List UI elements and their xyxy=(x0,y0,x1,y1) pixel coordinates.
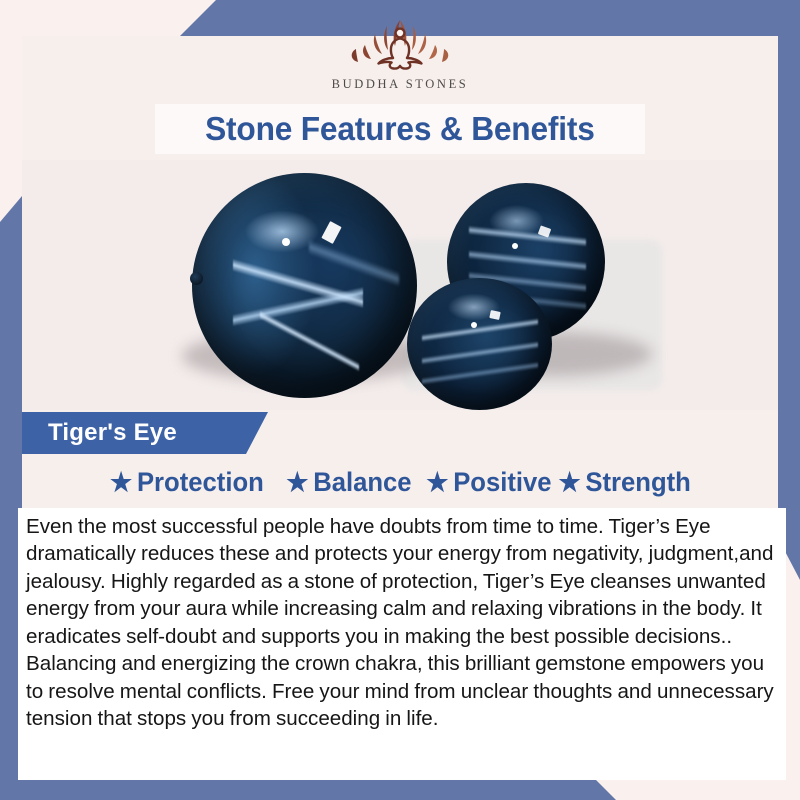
benefit-item-balance: ★ Balance xyxy=(287,467,412,498)
gem-sphere-large xyxy=(192,173,417,398)
brand-name: BUDDHA STONES xyxy=(0,77,800,92)
lotus-meditation-icon xyxy=(325,14,475,76)
description-text: Even the most successful people have dou… xyxy=(18,508,786,733)
benefit-item-strength: ★ Strength xyxy=(559,467,691,498)
benefit-label: Balance xyxy=(314,467,412,498)
page-title-text: Stone Features & Benefits xyxy=(205,110,595,148)
star-icon: ★ xyxy=(287,469,309,495)
gem-specular xyxy=(471,322,477,328)
page-title: Stone Features & Benefits xyxy=(155,104,645,154)
stone-name-label: Tiger's Eye xyxy=(22,419,177,447)
benefit-item-protection: ★ Protection xyxy=(110,467,264,498)
gemstone-photo xyxy=(22,160,778,410)
benefit-label: Positive xyxy=(453,467,551,498)
star-icon: ★ xyxy=(427,469,449,495)
gem-specular xyxy=(512,243,518,249)
benefit-label: Strength xyxy=(586,467,691,498)
star-icon: ★ xyxy=(559,469,581,495)
stone-name-banner: Tiger's Eye xyxy=(22,412,268,454)
star-icon: ★ xyxy=(110,469,132,495)
benefits-list: ★ Protection ★ Balance ★ Positive ★ Stre… xyxy=(22,462,778,502)
benefit-item-positive: ★ Positive xyxy=(427,467,552,498)
gem-sphere-small xyxy=(407,278,552,410)
benefit-label: Protection xyxy=(137,467,264,498)
product-info-poster: BUDDHA STONES Stone Features & Benefits xyxy=(0,0,800,800)
description-card: Even the most successful people have dou… xyxy=(18,508,786,780)
brand-logo: BUDDHA STONES xyxy=(0,14,800,92)
